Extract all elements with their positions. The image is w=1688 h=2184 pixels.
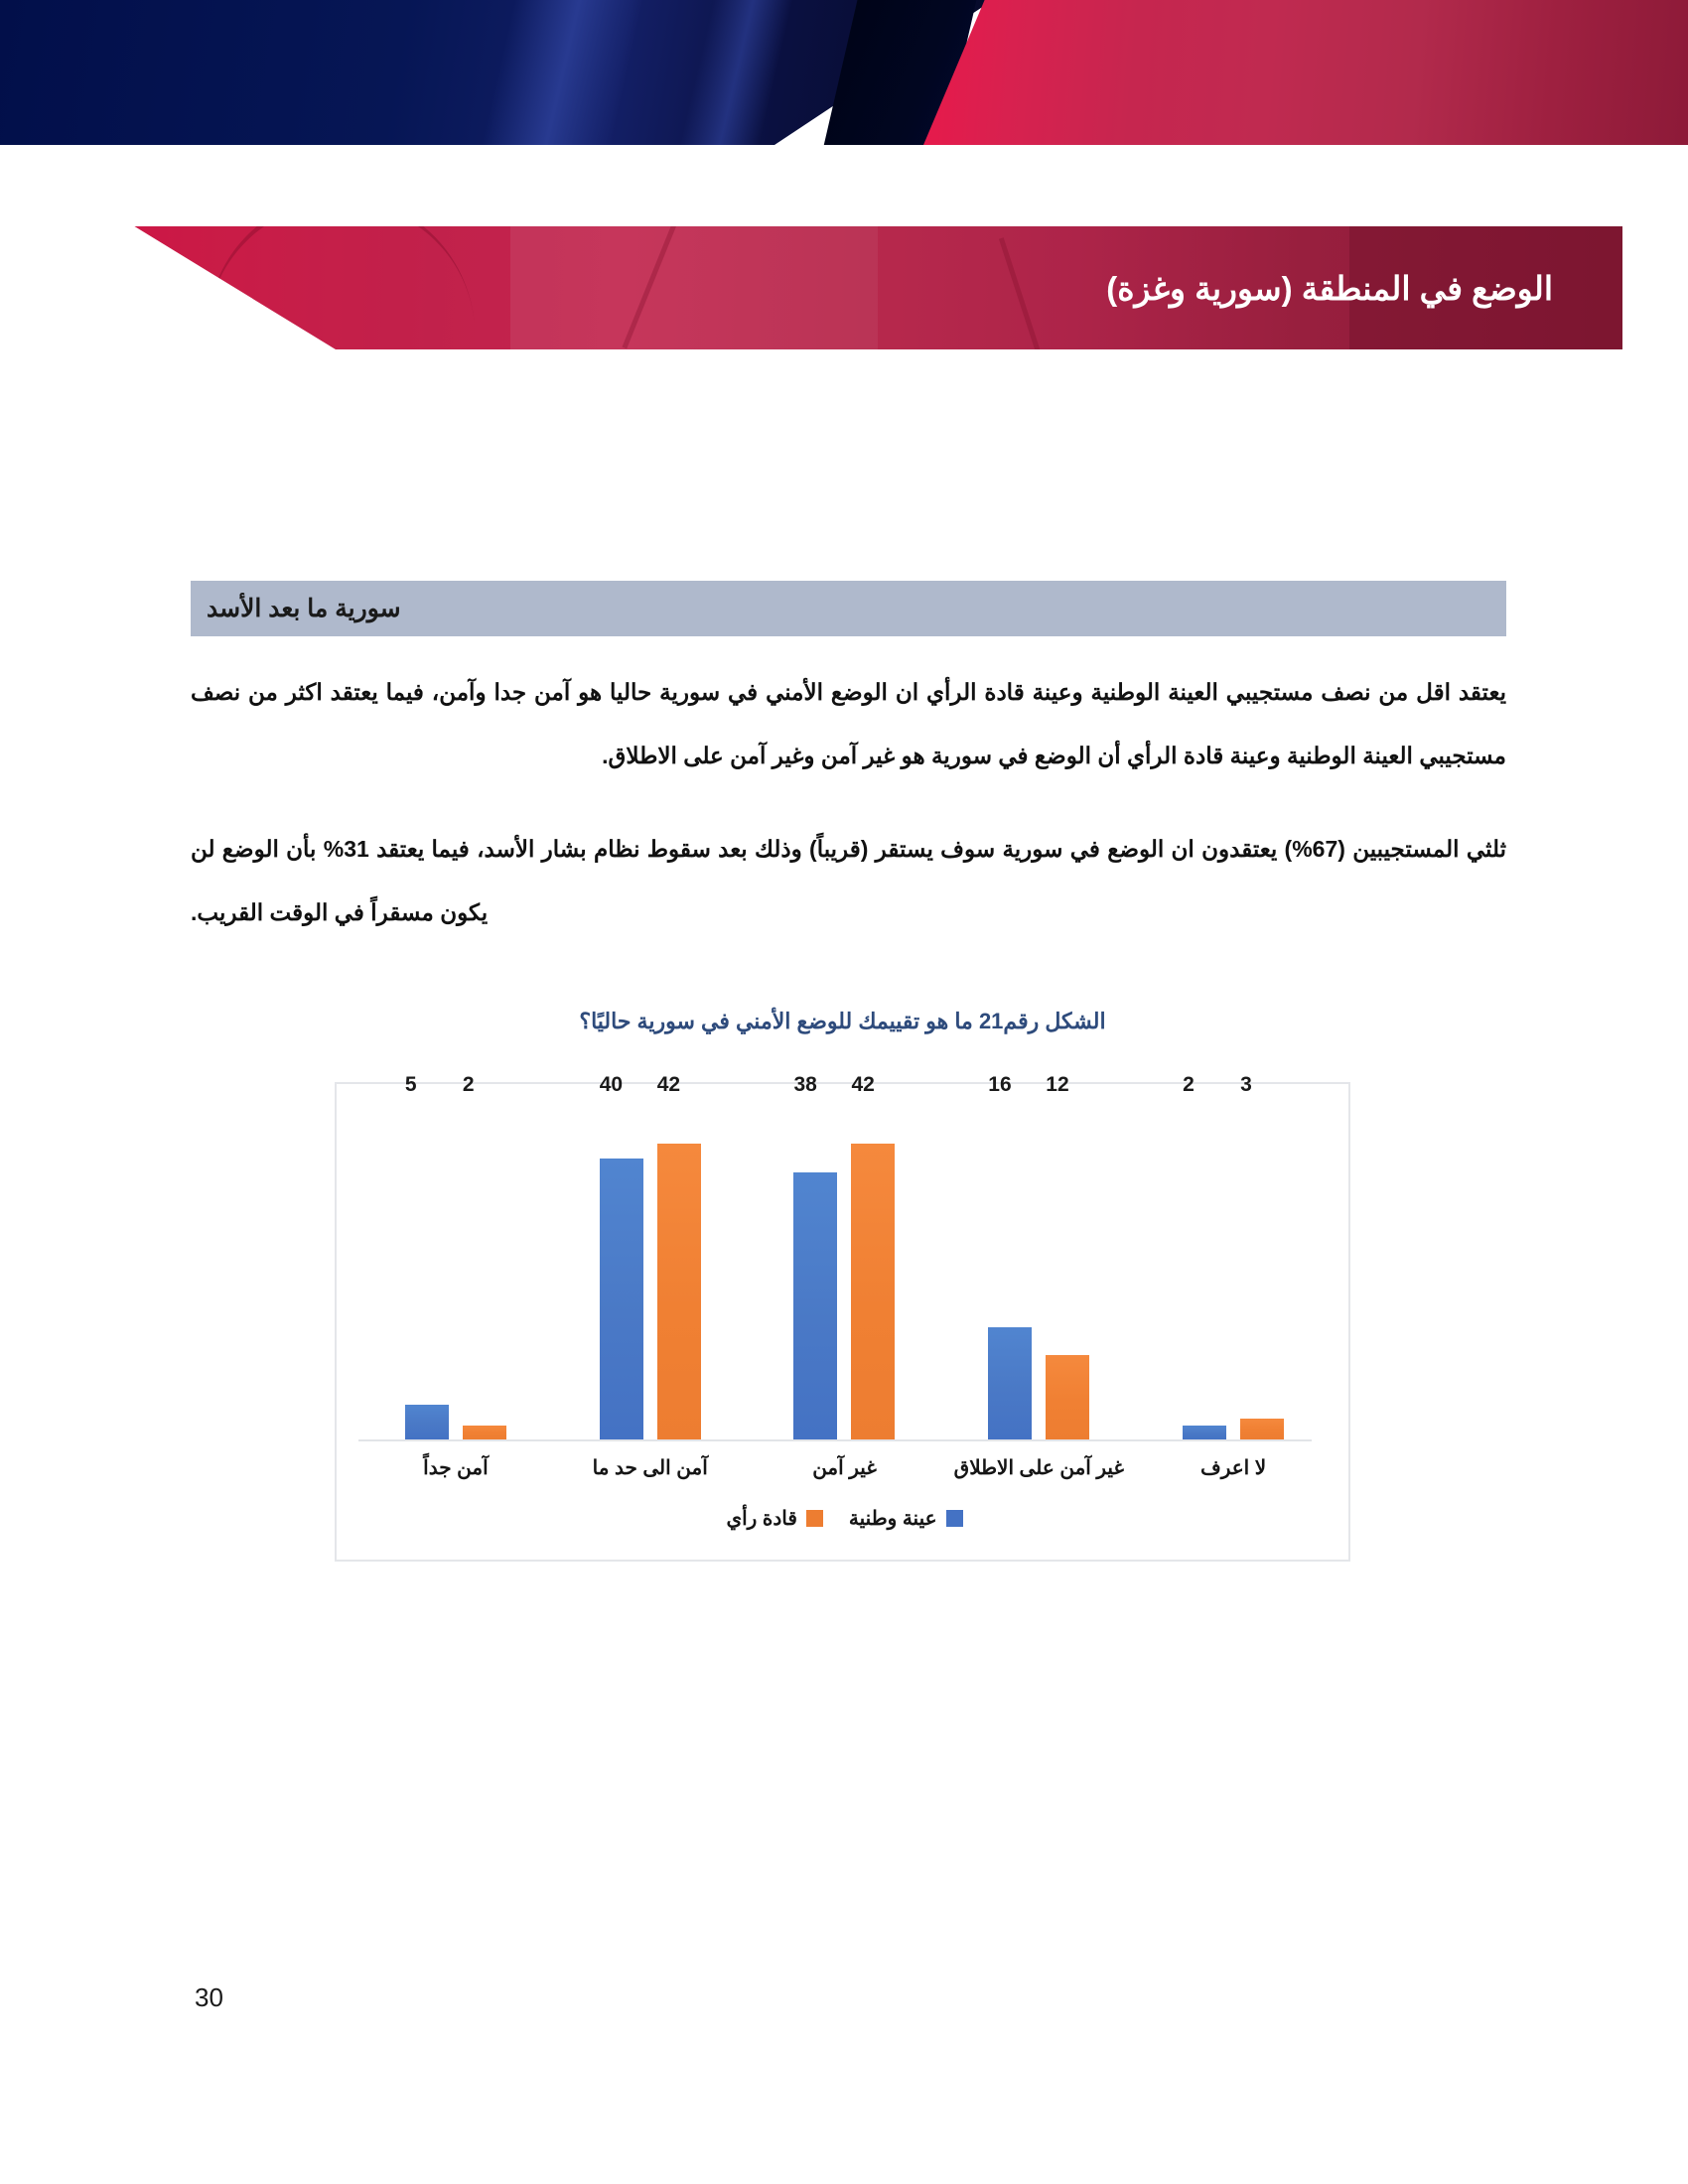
top-decorative-banner <box>0 0 1688 145</box>
page-number: 30 <box>195 1982 223 2013</box>
legend-color-swatch-icon <box>806 1510 823 1527</box>
chart-bar-rect: 16 <box>988 1327 1032 1439</box>
chart-plot-area: 5240423842161223 <box>358 1102 1331 1439</box>
chart-bar-group: 3842 <box>748 1102 942 1439</box>
chart-bar: 16 <box>988 1102 1032 1439</box>
bar-chart: 5240423842161223 آمن جداًآمن الى حد ماغي… <box>335 1082 1350 1562</box>
chart-bar-group: 1612 <box>941 1102 1136 1439</box>
chart-bar-value-label: 16 <box>988 1074 1011 1095</box>
page-title-banner: الوضع في المنطقة (سورية وغزة) <box>14 226 1622 349</box>
chart-bar-rect: 42 <box>851 1144 895 1439</box>
body-content: يعتقد اقل من نصف مستجيبي العينة الوطنية … <box>191 660 1506 970</box>
chart-category-labels: آمن جداًآمن الى حد ماغير آمنغير آمن على … <box>358 1447 1331 1491</box>
paragraph: يعتقد اقل من نصف مستجيبي العينة الوطنية … <box>191 660 1506 787</box>
chart-bar-value-label: 2 <box>1183 1074 1195 1095</box>
chart-legend: عينة وطنيةقادة رأي <box>337 1506 1352 1531</box>
legend-series-label: قادة رأي <box>726 1506 796 1531</box>
legend-series-label: عينة وطنية <box>849 1506 937 1531</box>
chart-bar-value-label: 5 <box>405 1074 417 1095</box>
chart-legend-item[interactable]: عينة وطنية <box>849 1506 963 1531</box>
chart-bar-rect: 38 <box>793 1172 837 1439</box>
chart-category-label: آمن جداً <box>423 1455 488 1480</box>
legend-color-swatch-icon <box>946 1510 963 1527</box>
chart-bar-rect: 2 <box>1183 1426 1226 1439</box>
chart-bar-rect: 12 <box>1046 1355 1089 1439</box>
banner-navy-streak <box>672 0 797 145</box>
chart-bar-rect: 2 <box>463 1426 506 1439</box>
section-heading-bar: سورية ما بعد الأسد <box>191 581 1506 636</box>
paragraph: ثلثي المستجيبين (67%) يعتقدون ان الوضع ف… <box>191 817 1506 944</box>
chart-bar-value-label: 40 <box>600 1074 623 1095</box>
banner-red-block <box>923 0 1688 145</box>
chart-bar-group: 23 <box>1136 1102 1331 1439</box>
chart-bar-value-label: 38 <box>793 1074 816 1095</box>
chart-bar-rect: 40 <box>600 1159 643 1439</box>
chart-category-label: لا اعرف <box>1200 1455 1266 1480</box>
section-heading-label: سورية ما بعد الأسد <box>207 594 401 623</box>
chart-bar-value-label: 2 <box>463 1074 475 1095</box>
chart-category-label: غير آمن <box>812 1455 877 1480</box>
chart-bar-value-label: 3 <box>1240 1074 1252 1095</box>
chart-category-label: آمن الى حد ما <box>593 1455 708 1480</box>
chart-bar-rect: 42 <box>657 1144 701 1439</box>
chart-bar: 5 <box>405 1102 449 1439</box>
page-title: الوضع في المنطقة (سورية وغزة) <box>1106 226 1553 349</box>
chart-bar: 42 <box>657 1102 701 1439</box>
chart-category-label: غير آمن على الاطلاق <box>954 1455 1124 1480</box>
chart-bar-value-label: 12 <box>1046 1074 1068 1095</box>
chart-axis-line <box>358 1439 1312 1441</box>
chart-bar-value-label: 42 <box>851 1074 874 1095</box>
chart-bar-rect: 3 <box>1240 1419 1284 1439</box>
chart-bar-group: 4042 <box>553 1102 748 1439</box>
chart-bar-group: 52 <box>358 1102 553 1439</box>
chart-bar: 2 <box>1183 1102 1226 1439</box>
chart-legend-item[interactable]: قادة رأي <box>726 1506 822 1531</box>
chart-bar: 12 <box>1046 1102 1089 1439</box>
figure-title: الشكل رقم21 ما هو تقييمك للوضع الأمني في… <box>335 1009 1350 1034</box>
chart-bar: 42 <box>851 1102 895 1439</box>
banner-navy-streak <box>474 0 648 145</box>
chart-bar-rect: 5 <box>405 1405 449 1439</box>
chart-bar: 3 <box>1240 1102 1284 1439</box>
chart-bar: 40 <box>600 1102 643 1439</box>
chart-bar: 38 <box>793 1102 837 1439</box>
chart-bar: 2 <box>463 1102 506 1439</box>
chart-bar-value-label: 42 <box>657 1074 680 1095</box>
